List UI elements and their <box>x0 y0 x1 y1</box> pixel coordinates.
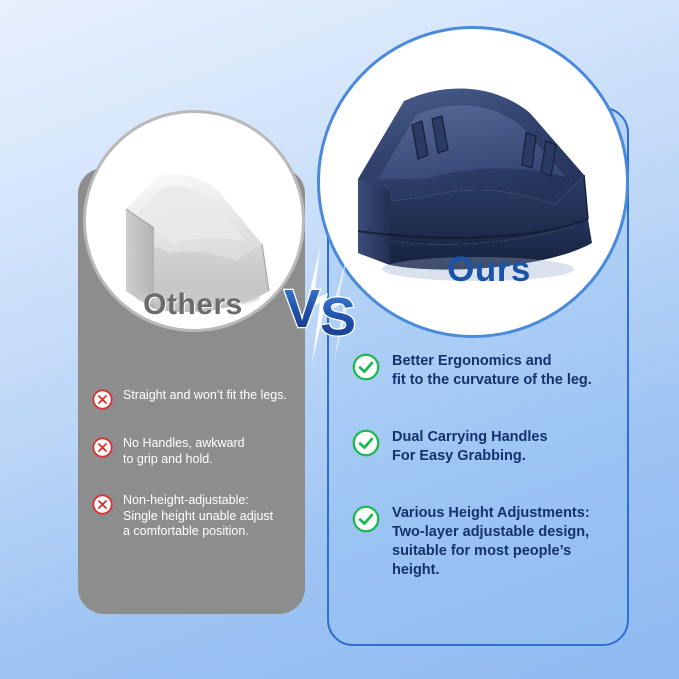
vs-badge: V S <box>268 243 378 368</box>
cross-circle-icon <box>92 437 113 458</box>
others-feature-list: Straight and won’t fit the legs. No Hand… <box>92 388 297 566</box>
list-item-label: No Handles, awkward to grip and hold. <box>123 436 245 467</box>
ours-title: Ours <box>404 250 574 290</box>
list-item: No Handles, awkward to grip and hold. <box>92 436 297 467</box>
check-circle-icon <box>352 429 380 457</box>
list-item: Non-height-adjustable: Single height una… <box>92 493 297 540</box>
list-item-label: Straight and won’t fit the legs. <box>123 388 287 404</box>
list-item: Dual Carrying Handles For Easy Grabbing. <box>352 428 622 466</box>
check-circle-icon <box>352 505 380 533</box>
list-item: Better Ergonomics and fit to the curvatu… <box>352 352 622 390</box>
svg-text:S: S <box>320 287 356 347</box>
others-title: Others <box>118 288 268 322</box>
ours-feature-list: Better Ergonomics and fit to the curvatu… <box>352 352 622 618</box>
list-item-label: Dual Carrying Handles For Easy Grabbing. <box>392 428 548 466</box>
list-item: Straight and won’t fit the legs. <box>92 388 297 410</box>
cross-circle-icon <box>92 389 113 410</box>
list-item: Various Height Adjustments: Two-layer ad… <box>352 504 622 580</box>
list-item-label: Various Height Adjustments: Two-layer ad… <box>392 504 622 580</box>
vs-label: V <box>284 279 320 339</box>
list-item-label: Better Ergonomics and fit to the curvatu… <box>392 352 592 390</box>
comparison-infographic: Others Straight and won’t fit the legs. … <box>0 0 679 679</box>
cross-circle-icon <box>92 494 113 515</box>
list-item-label: Non-height-adjustable: Single height una… <box>123 493 273 540</box>
